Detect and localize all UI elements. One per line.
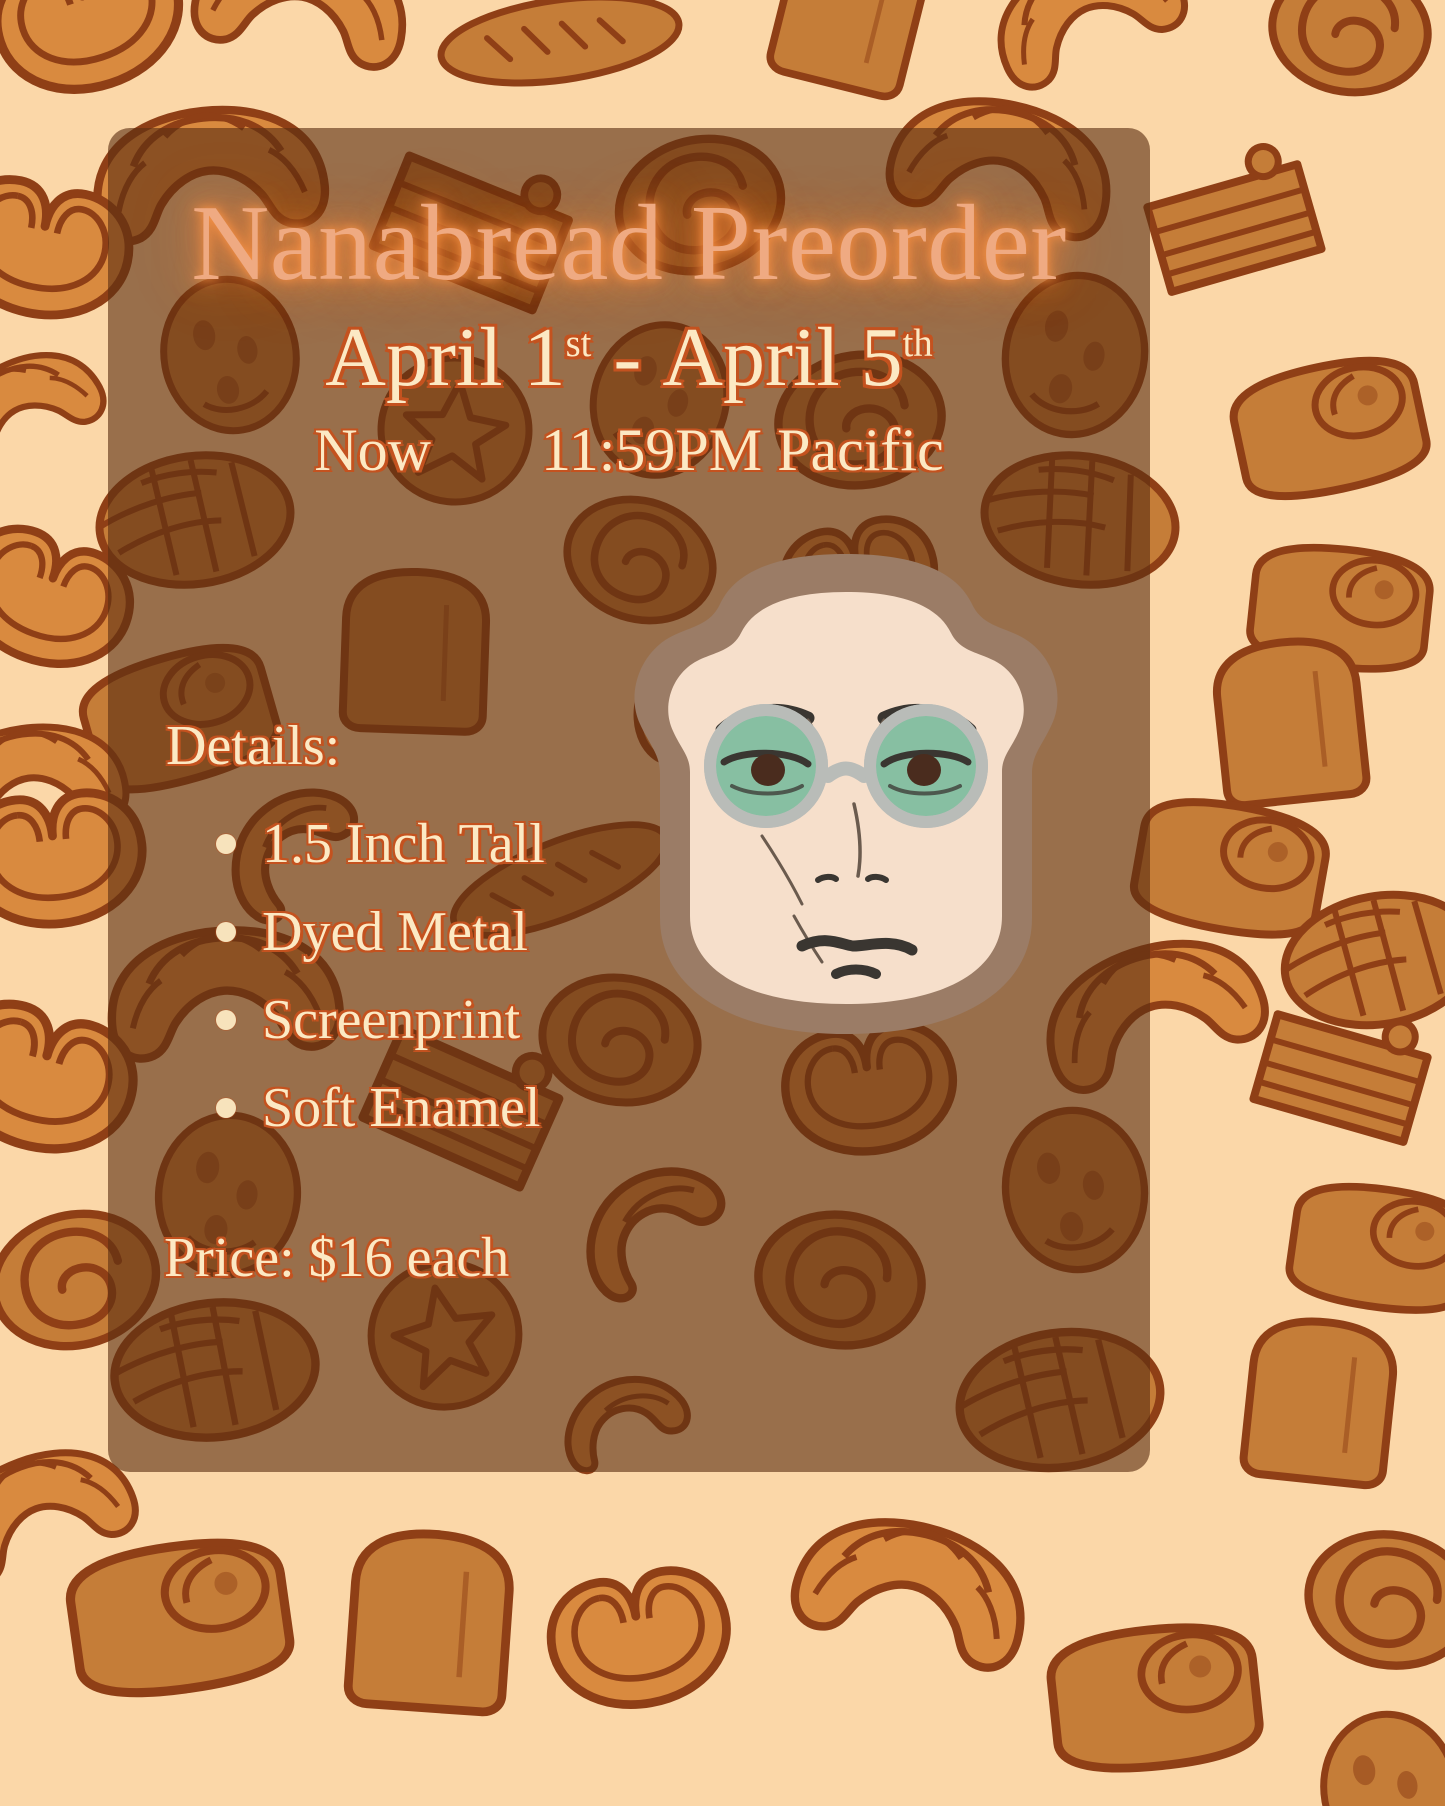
date-start-month: April: [325, 311, 502, 404]
time-close-label: 11:59PM Pacific: [541, 417, 944, 483]
list-item-label: Soft Enamel: [262, 1076, 540, 1140]
list-item-label: Screenprint: [262, 988, 520, 1052]
bullet-dot-icon: [216, 834, 236, 854]
list-item-label: Dyed Metal: [262, 900, 528, 964]
date-start-suffix: st: [566, 323, 592, 365]
date-separator: -: [613, 311, 641, 404]
list-item: 1.5 Inch Tall: [216, 800, 545, 888]
time-open-label: Now: [314, 417, 431, 483]
list-item: Dyed Metal: [216, 888, 545, 976]
list-item-label: 1.5 Inch Tall: [262, 812, 545, 876]
bullet-dot-icon: [216, 1010, 236, 1030]
date-end-month: April: [662, 311, 839, 404]
page-title: Nanabread Preorder: [108, 190, 1150, 298]
preorder-date-range: April 1st- April 5th: [108, 316, 1150, 400]
date-start-day: 1: [524, 311, 566, 404]
bullet-dot-icon: [216, 922, 236, 942]
date-end-suffix: th: [903, 323, 933, 365]
preorder-time-window: Now11:59PM Pacific: [108, 420, 1150, 480]
list-item: Screenprint: [216, 976, 545, 1064]
list-item: Soft Enamel: [216, 1064, 545, 1152]
details-list: 1.5 Inch Tall Dyed Metal Screenprint Sof…: [216, 800, 545, 1152]
nanabread-monkey-toast-character: [612, 548, 1080, 1040]
date-end-day: 5: [861, 311, 903, 404]
bullet-dot-icon: [216, 1098, 236, 1118]
price-label: Price: $16 each: [164, 1226, 509, 1290]
details-heading: Details:: [166, 714, 340, 778]
